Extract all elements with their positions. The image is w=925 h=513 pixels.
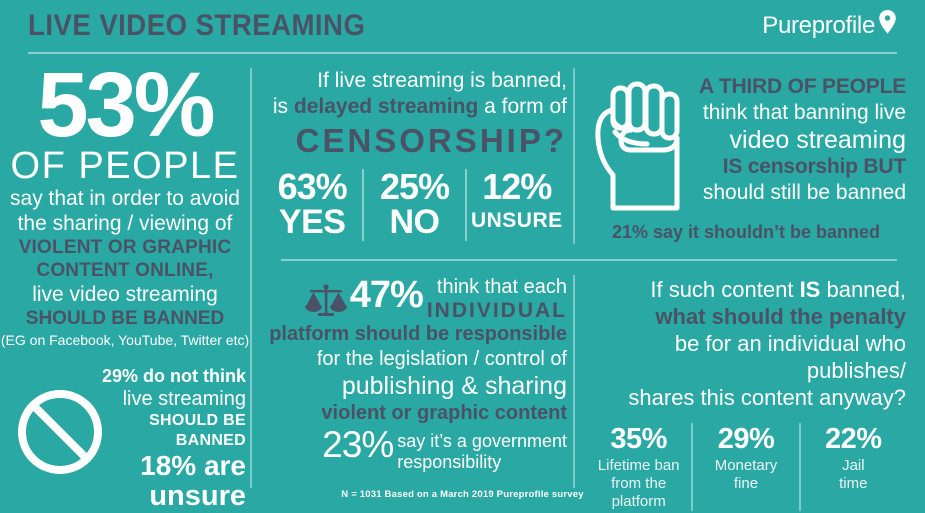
- rb-line3: be for an individual who publishes/: [586, 330, 906, 384]
- rt-footer-stat: 21% say it shouldn’t be banned: [586, 222, 906, 243]
- vertical-divider-right-upper: [573, 68, 575, 244]
- mb-line6: violent or graphic content: [262, 401, 567, 426]
- left-nb-line2: live streaming: [96, 387, 246, 411]
- mt-q2-post: a form of: [478, 95, 567, 118]
- rb-line4: shares this content anyway?: [586, 384, 906, 411]
- rb-stat-jail-time-label: Jailtime: [805, 457, 902, 493]
- mb-line3: platform should be responsible: [262, 322, 567, 347]
- rt-line4: IS censorship BUT: [678, 154, 906, 180]
- left-line-5: live video streaming: [0, 282, 250, 307]
- stat-53-percent: 53%: [0, 62, 250, 148]
- rb-line1-bold: IS: [800, 277, 821, 302]
- left-line-6: SHOULD BE BANNED: [0, 307, 250, 330]
- panel-middle-bottom: 47% think that each INDIVIDUAL platform …: [262, 276, 567, 476]
- mt-question-line1: If live streaming is banned,: [262, 68, 567, 94]
- mt-question-line2: is delayed streaming a form of: [262, 94, 567, 120]
- vertical-divider-left: [250, 68, 252, 488]
- stat-23-percent: 23%: [322, 428, 393, 462]
- left-29-line: 29% do not think: [96, 366, 246, 387]
- panel-right-top: A THIRD OF PEOPLE think that banning liv…: [586, 68, 906, 248]
- rt-line5: should still be banned: [678, 180, 906, 206]
- vertical-divider-right-lower: [573, 275, 575, 488]
- mb-line4: for the legislation / control of: [262, 347, 567, 372]
- mb-line1: think that each: [427, 276, 567, 299]
- left-29-rest: do not think: [138, 366, 246, 386]
- location-pin-icon: [878, 10, 897, 34]
- mt-stat-unsure: 12% UNSURE: [465, 169, 567, 241]
- mb-line2: INDIVIDUAL: [427, 299, 567, 322]
- panel-left: 53% OF PEOPLE say that in order to avoid…: [0, 58, 250, 513]
- rb-stat-monetary-fine-label: Monetaryfine: [697, 457, 794, 493]
- left-line-7: (EG on Facebook, YouTube, Twitter etc): [0, 330, 250, 350]
- left-line-4: CONTENT ONLINE,: [0, 259, 250, 282]
- stat-18-percent: 18% are: [96, 451, 246, 481]
- left-line-2: the sharing / viewing of: [0, 211, 250, 236]
- footnote: N = 1031 Based on a March 2019 Pureprofi…: [0, 489, 925, 500]
- mt-stat-no-pct: 25%: [366, 169, 462, 205]
- scales-of-justice-icon: [304, 282, 348, 320]
- stat-47-percent: 47%: [350, 276, 423, 314]
- rt-line3: video streaming: [678, 126, 906, 154]
- mt-stat-yes: 63% YES: [262, 169, 362, 241]
- rb-stat-jail-time-pct: 22%: [805, 423, 902, 455]
- mb-secondary-stat-row: 23% say it’s a government responsibility: [262, 428, 567, 473]
- left-line-1: say that in order to avoid: [0, 186, 250, 211]
- rb-line1: If such content IS banned,: [586, 276, 906, 303]
- mt-stat-unsure-pct: 12%: [469, 169, 565, 205]
- header: LIVE VIDEO STREAMING Pureprofile: [0, 0, 925, 58]
- panel-middle-top: If live streaming is banned, is delayed …: [262, 68, 567, 248]
- rt-line2: think that banning live: [678, 100, 906, 126]
- horizontal-divider: [281, 259, 897, 261]
- left-line-3: VIOLENT OR GRAPHIC: [0, 236, 250, 259]
- prohibition-sign-icon: [14, 386, 106, 478]
- rb-line1-post: banned,: [820, 277, 906, 302]
- page-title: LIVE VIDEO STREAMING: [28, 9, 365, 43]
- right-top-text: A THIRD OF PEOPLE think that banning liv…: [678, 74, 906, 206]
- mb-stat2-line2: responsibility: [397, 452, 567, 473]
- mt-censorship-heading: CENSORSHIP?: [262, 121, 567, 161]
- mt-stat-yes-pct: 63%: [264, 169, 360, 205]
- rb-line1-pre: If such content: [650, 277, 799, 302]
- left-nb-line3: SHOULD BE BANNED: [96, 411, 246, 451]
- mb-headline-text: think that each INDIVIDUAL: [427, 276, 567, 322]
- stat-53-subtitle: OF PEOPLE: [0, 146, 250, 186]
- mb-headline-row: 47% think that each INDIVIDUAL: [262, 276, 567, 322]
- mt-stat-unsure-label: UNSURE: [469, 205, 565, 237]
- mb-stat2-line1: say it’s a government: [397, 431, 567, 452]
- mt-stat-no-label: NO: [366, 205, 462, 239]
- mb-secondary-stat-text: say it’s a government responsibility: [397, 428, 567, 473]
- infographic-canvas: LIVE VIDEO STREAMING Pureprofile 53% OF …: [0, 0, 925, 513]
- mt-stat-yes-label: YES: [264, 205, 360, 239]
- rt-line1: A THIRD OF PEOPLE: [678, 74, 906, 100]
- mb-line5: publishing & sharing: [262, 372, 567, 401]
- logo-text: Pureprofile: [762, 12, 875, 40]
- mt-q2-bold: delayed streaming: [294, 95, 478, 118]
- mt-stat-no: 25% NO: [362, 169, 464, 241]
- rb-stat-lifetime-ban-pct: 35%: [590, 423, 687, 455]
- mt-q2-pre: is: [273, 95, 294, 118]
- rb-stat-monetary-fine-pct: 29%: [697, 423, 794, 455]
- stat-29-percent: 29%: [102, 366, 138, 386]
- rb-stat-lifetime-ban-label: Lifetime banfrom theplatform: [590, 457, 687, 511]
- mt-stats-row: 63% YES 25% NO 12% UNSURE: [262, 169, 567, 241]
- rb-line2: what should the penalty: [586, 303, 906, 330]
- panel-right-bottom: If such content IS banned, what should t…: [586, 276, 906, 476]
- brand-logo: Pureprofile: [762, 12, 897, 40]
- raised-fist-icon: [591, 80, 686, 215]
